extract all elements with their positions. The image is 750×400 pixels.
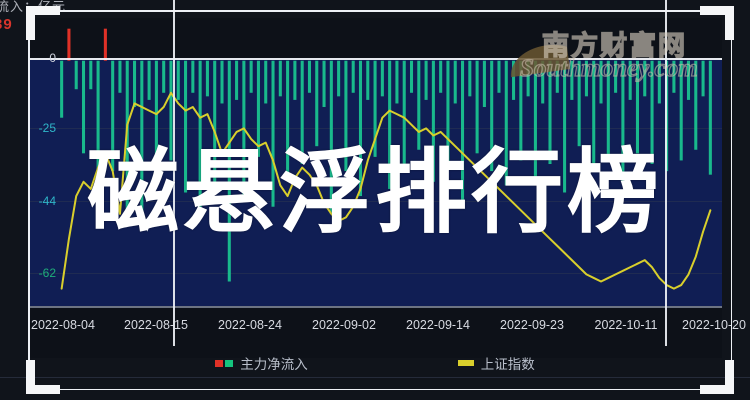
crosshair-rail-left[interactable] xyxy=(173,0,175,346)
x-tick: 2022-09-23 xyxy=(500,318,564,332)
plot-area[interactable] xyxy=(28,18,722,310)
crop-rail-left xyxy=(28,10,30,390)
inflow-unit-label: 流入：亿元 xyxy=(0,0,66,15)
legend-label: 主力净流入 xyxy=(240,353,308,373)
crop-rail-right xyxy=(731,10,733,390)
bar-series xyxy=(60,29,712,282)
zero-line xyxy=(28,58,722,60)
x-tick: 2022-08-15 xyxy=(124,318,188,332)
axis-floor-line xyxy=(28,306,722,308)
inflow-red-value: 39 xyxy=(0,16,13,33)
y-tick: 0 xyxy=(49,51,56,65)
screenshot-root: 流入：亿元 39 0 -25 -44 -62 2022-08-04 xyxy=(0,0,750,400)
y-axis: 0 -25 -44 -62 xyxy=(28,18,58,310)
x-axis: 2022-08-04 2022-08-15 2022-08-24 2022-09… xyxy=(28,318,722,340)
legend-swatch-inflow-icon xyxy=(215,360,233,367)
series-layer xyxy=(28,18,722,310)
bottom-divider xyxy=(0,377,750,378)
x-tick: 2022-09-02 xyxy=(312,318,376,332)
y-tick: -44 xyxy=(39,194,56,208)
x-tick: 2022-10-20 xyxy=(682,318,746,332)
y-tick: -62 xyxy=(39,266,56,280)
index-line-series xyxy=(62,93,711,289)
x-tick: 2022-09-14 xyxy=(406,318,470,332)
legend-swatch-index-icon xyxy=(458,360,474,366)
stock-flow-chart[interactable]: 0 -25 -44 -62 2022-08-04 2022-08-15 2022… xyxy=(28,18,722,358)
chart-legend[interactable]: 主力净流入 上证指数 xyxy=(28,352,722,374)
x-tick: 2022-10-11 xyxy=(594,318,657,332)
x-tick: 2022-08-24 xyxy=(218,318,282,332)
legend-item-main-inflow[interactable]: 主力净流入 xyxy=(215,353,308,373)
legend-item-sse-index[interactable]: 上证指数 xyxy=(458,353,535,373)
crosshair-rail-right[interactable] xyxy=(665,0,667,346)
crop-rail-top xyxy=(28,10,732,12)
y-tick: -25 xyxy=(39,121,56,135)
crop-rail-bottom xyxy=(28,389,732,391)
x-tick: 2022-08-04 xyxy=(31,318,95,332)
legend-label: 上证指数 xyxy=(481,353,535,373)
